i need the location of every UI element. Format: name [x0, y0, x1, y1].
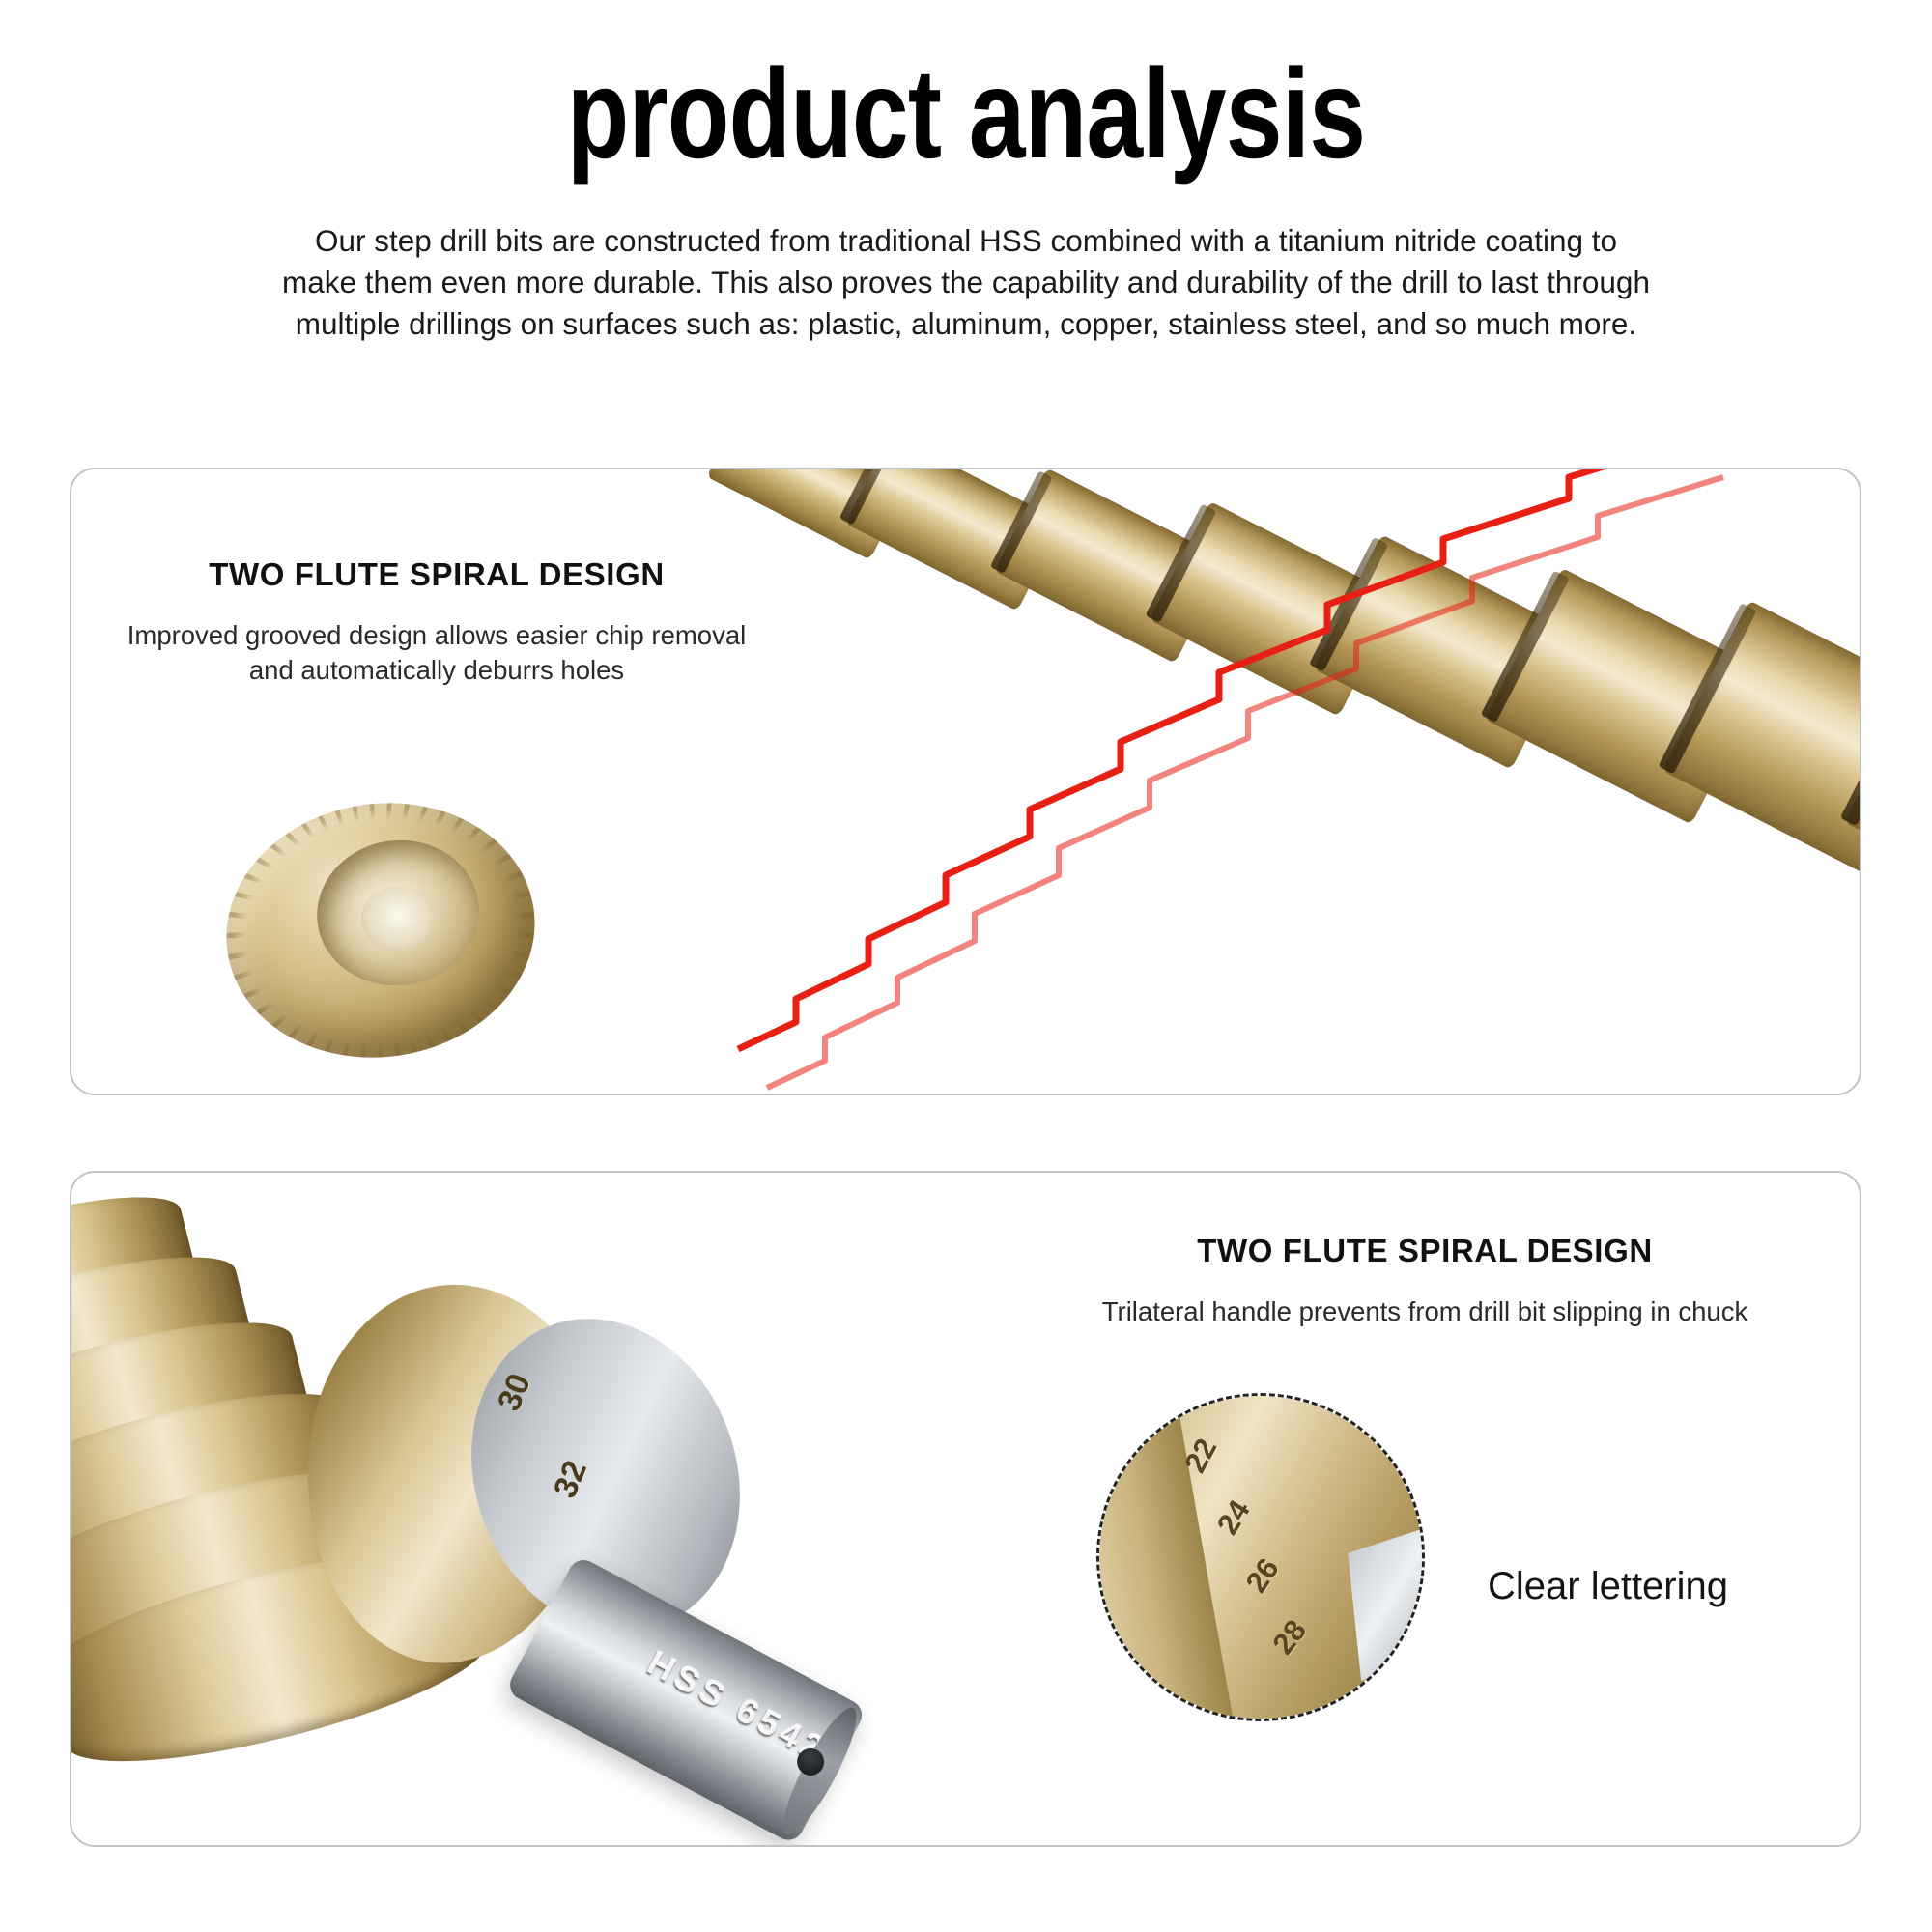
card-2-heading: TWO FLUTE SPIRAL DESIGN — [1019, 1233, 1831, 1269]
flute-end-view-photo — [216, 779, 545, 1068]
lettering-magnifier-photo: 20 22 24 26 28 — [1096, 1393, 1425, 1721]
card-2-subtext: Trilateral handle prevents from drill bi… — [1019, 1294, 1831, 1329]
step-bit-cone-shape — [651, 469, 1861, 1094]
feature-card-two-flute-spiral: TWO FLUTE SPIRAL DESIGN Improved grooved… — [70, 468, 1861, 1095]
intro-paragraph: Our step drill bits are constructed from… — [280, 220, 1652, 344]
page-title: product analysis — [193, 0, 1739, 178]
clear-lettering-label: Clear lettering — [1488, 1565, 1728, 1608]
step-drill-bit-spiral-photo — [651, 469, 1861, 1094]
card-2-text-block: TWO FLUTE SPIRAL DESIGN Trilateral handl… — [1019, 1233, 1831, 1329]
magnifier-steel-edge — [1348, 1526, 1425, 1681]
drill-bit-shank-photo: 30 32 HSS 6542 — [70, 1171, 1055, 1847]
flute-core-shape — [361, 887, 435, 951]
feature-card-trilateral-handle: 30 32 HSS 6542 TWO FLUTE SPIRAL DESIGN T… — [70, 1171, 1861, 1847]
